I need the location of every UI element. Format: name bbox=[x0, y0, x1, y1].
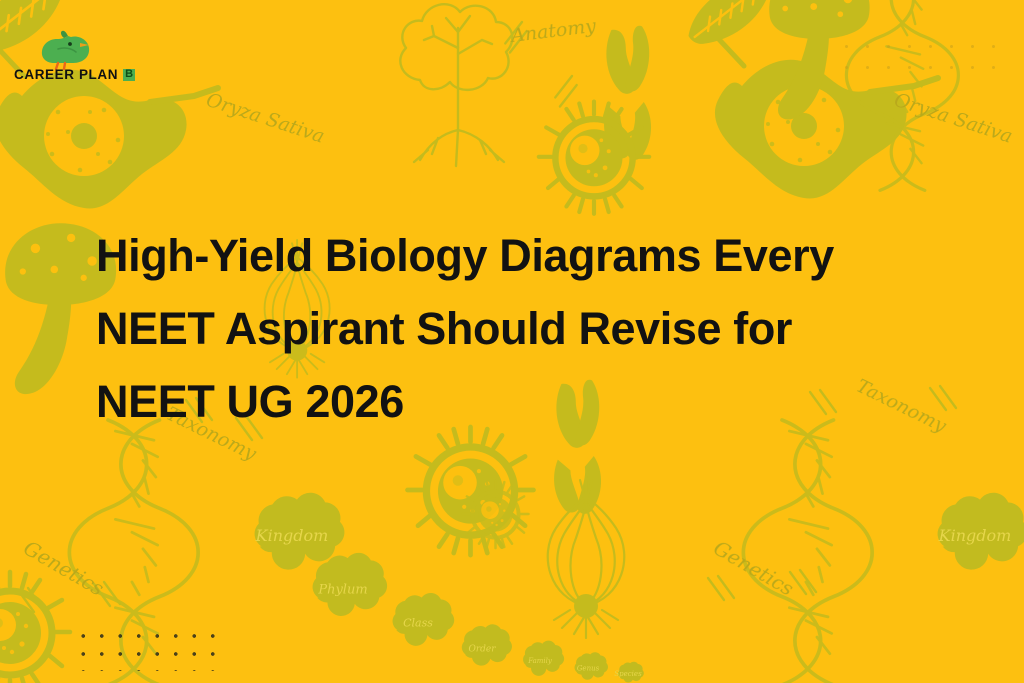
dot-grid-top-right bbox=[836, 36, 996, 82]
handwritten-label: Genetics bbox=[710, 536, 799, 601]
taxonomy-bubbles: KingdomPhylumClassOrderFamilyGenusSpecie… bbox=[255, 493, 1024, 683]
taxonomy-bubble-label: Species bbox=[614, 670, 642, 678]
bird-icon bbox=[38, 30, 92, 70]
taxonomy-bubble-label: Family bbox=[527, 657, 553, 665]
taxonomy-bubble-shape bbox=[938, 493, 1024, 570]
logo-badge: B bbox=[123, 69, 135, 81]
motif-marks-h bbox=[94, 582, 120, 606]
taxonomy-bubble-shape bbox=[523, 641, 564, 676]
handwritten-label: Genetics bbox=[20, 536, 109, 601]
logo-brand-text: CAREER PLAN bbox=[14, 68, 118, 82]
taxonomy-bubble-shape bbox=[575, 652, 608, 680]
taxonomy-bubble: Species bbox=[614, 662, 643, 683]
taxonomy-bubble-shape bbox=[393, 593, 455, 646]
motif-tree-top bbox=[400, 4, 512, 166]
taxonomy-bubble: Class bbox=[393, 593, 455, 646]
headline-line-3: NEET UG 2026 bbox=[96, 376, 404, 427]
handwritten-label: Anatomy bbox=[508, 15, 597, 47]
taxonomy-bubble-label: Genus bbox=[577, 664, 600, 672]
motif-marks-f bbox=[790, 570, 816, 594]
motif-dna-left bbox=[69, 420, 198, 683]
taxonomy-bubble-label: Kingdom bbox=[255, 526, 329, 545]
logo[interactable]: CAREER PLAN B bbox=[14, 30, 134, 88]
motif-marks-g bbox=[18, 588, 44, 612]
taxonomy-bubble-label: Kingdom bbox=[938, 526, 1012, 545]
taxonomy-bubble-label: Phylum bbox=[317, 582, 367, 597]
taxonomy-bubble: Family bbox=[523, 641, 564, 676]
logo-wordmark: CAREER PLAN B bbox=[14, 68, 135, 82]
page-title: High-Yield Biology Diagrams Every NEET A… bbox=[96, 219, 956, 438]
motif-neuron-right-top bbox=[698, 14, 938, 198]
motif-dna-top-right bbox=[846, 0, 958, 190]
handwritten-label: Oryza Sativa bbox=[203, 89, 327, 148]
blog-banner: Oryza SativaOryza SativaAnatomyTaxonomyT… bbox=[0, 0, 1024, 683]
dot-grid-bottom-left bbox=[74, 627, 222, 671]
taxonomy-bubble: Kingdom bbox=[255, 493, 345, 570]
taxonomy-bubble-shape bbox=[255, 493, 345, 570]
motif-cell-top bbox=[539, 102, 649, 214]
taxonomy-bubble-shape bbox=[313, 553, 388, 616]
motif-mushroom-top-right bbox=[769, 0, 869, 119]
motif-cell-bottom bbox=[408, 427, 534, 555]
taxonomy-bubble-shape bbox=[618, 662, 644, 683]
taxonomy-bubble-shape bbox=[462, 624, 512, 665]
headline-line-1: High-Yield Biology Diagrams Every bbox=[96, 230, 834, 281]
taxonomy-bubble: Order bbox=[462, 624, 512, 665]
taxonomy-bubble: Genus bbox=[575, 652, 608, 680]
taxonomy-bubble-label: Class bbox=[403, 616, 433, 629]
motif-chromosome-top bbox=[604, 26, 651, 160]
taxonomy-bubble: Kingdom bbox=[938, 493, 1024, 570]
handwritten-label: Oryza Sativa bbox=[891, 89, 1015, 148]
motif-cell-bottom-left bbox=[0, 572, 70, 683]
motif-marks-e bbox=[708, 576, 734, 600]
motif-leaf-top bbox=[682, 0, 781, 46]
motif-marks-i bbox=[501, 21, 531, 53]
motif-dna-right bbox=[743, 420, 872, 683]
motif-marks-j bbox=[551, 75, 581, 107]
headline-line-2: NEET Aspirant Should Revise for bbox=[96, 303, 792, 354]
motif-onion-bottom bbox=[548, 476, 625, 638]
motif-cell-bottom-mid bbox=[463, 481, 529, 548]
taxonomy-bubble-label: Order bbox=[468, 645, 496, 655]
taxonomy-bubble: Phylum bbox=[313, 553, 388, 616]
